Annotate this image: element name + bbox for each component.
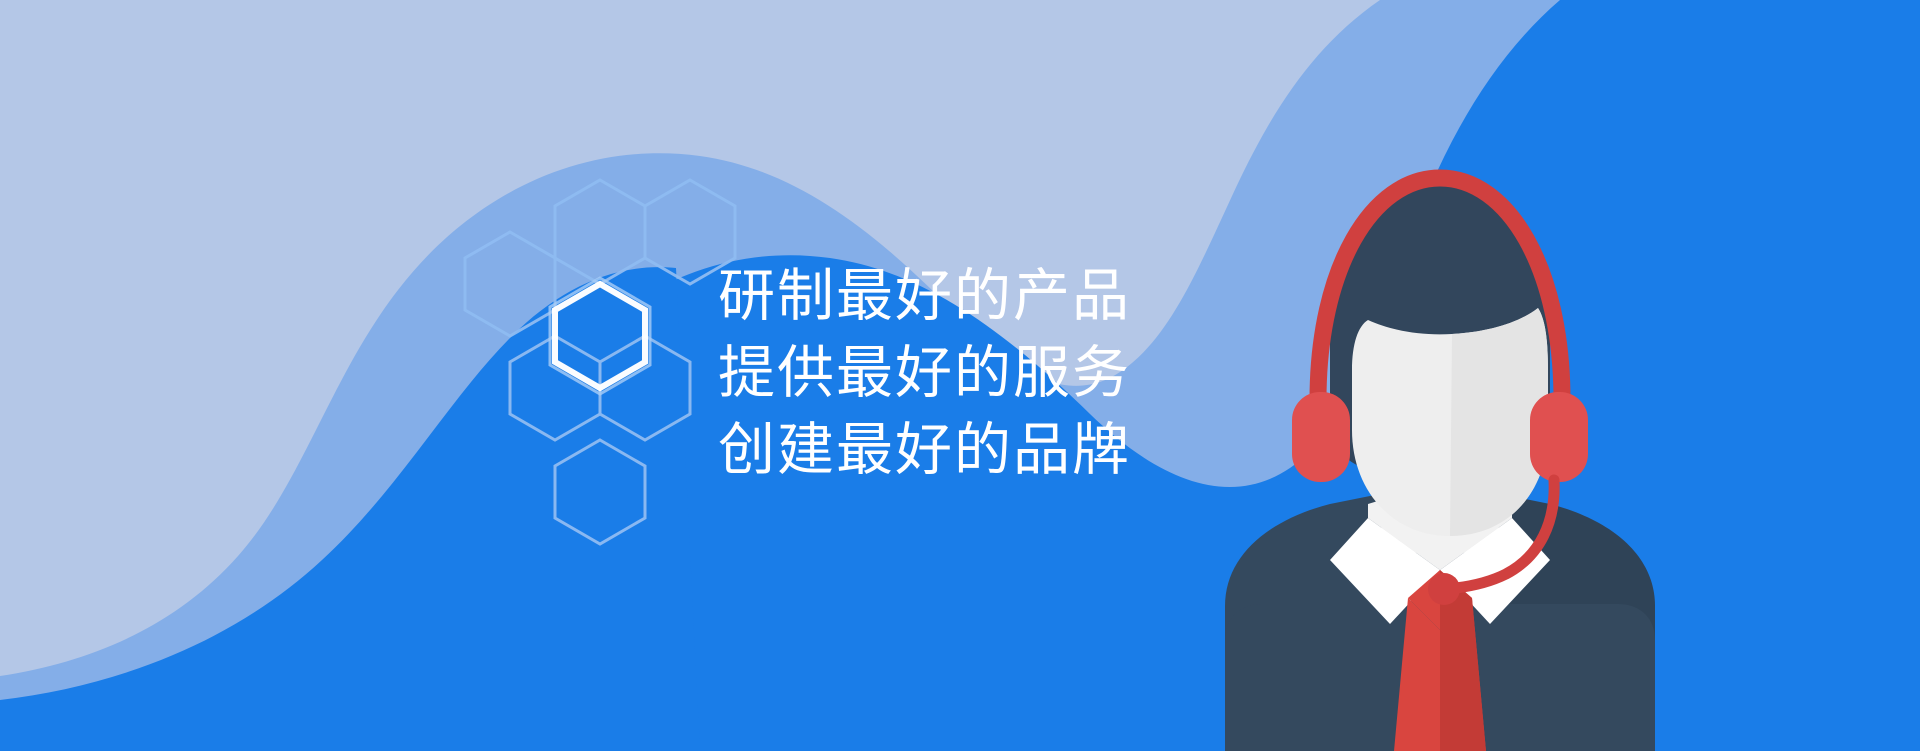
slogan-line-1: 研制最好的产品 [718,268,1278,325]
headset-mic-tip [1428,573,1460,605]
slogan-line-2: 提供最好的服务 [718,345,1278,402]
slogan-line-3: 创建最好的品牌 [718,422,1278,479]
hero-banner: 研制最好的产品 提供最好的服务 创建最好的品牌 [0,0,1920,751]
slogan-block: 研制最好的产品 提供最好的服务 创建最好的品牌 [718,268,1278,479]
headset-earcup-right [1530,392,1588,482]
headset-earcup-left [1292,392,1350,482]
